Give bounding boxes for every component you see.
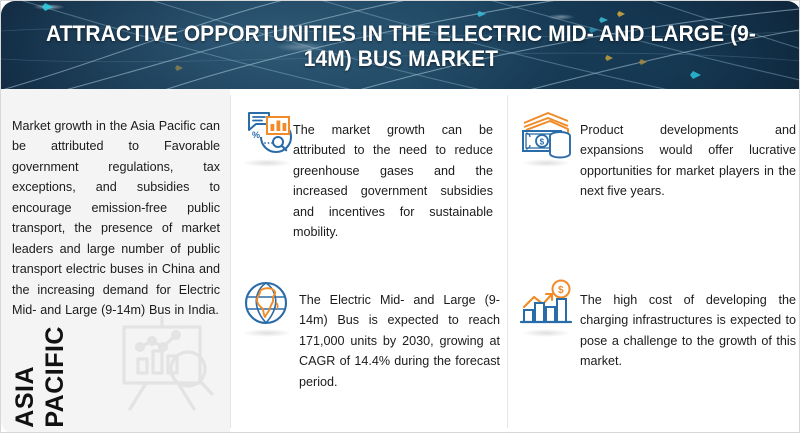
card-product-opportunities: $ Product developments and expansions wo… xyxy=(518,107,800,214)
icon-shadow xyxy=(242,159,292,167)
globe-icon xyxy=(239,277,295,333)
column-divider-right xyxy=(507,95,508,428)
presentation-board-analytics-icon xyxy=(106,311,218,420)
region-label-line1: ASIA xyxy=(13,366,38,428)
region-label-line2: PACIFIC xyxy=(43,326,68,428)
region-paragraph: Market growth in the Asia Pacific can be… xyxy=(12,116,220,321)
icon-shadow xyxy=(242,329,292,337)
card-text: The Electric Mid- and Large (9-14m) Bus … xyxy=(299,290,500,393)
card-text: The market growth can be attributed to t… xyxy=(293,120,493,243)
region-label: ASIA PACIFIC xyxy=(9,308,109,428)
card-market-growth-drivers: % The market growt xyxy=(239,107,505,255)
svg-text:%: % xyxy=(252,130,260,140)
icon-shadow xyxy=(521,329,571,337)
infographic-canvas: ATTRACTIVE OPPORTUNITIES IN THE ELECTRIC… xyxy=(0,0,800,433)
page-title: ATTRACTIVE OPPORTUNITIES IN THE ELECTRIC… xyxy=(46,21,757,71)
card-text: Product developments and expansions woul… xyxy=(580,120,796,202)
svg-text:$: $ xyxy=(558,285,564,296)
region-panel: Market growth in the Asia Pacific can be… xyxy=(1,89,230,433)
right-column: $ Product developments and expansions wo… xyxy=(508,89,800,433)
header-banner: ATTRACTIVE OPPORTUNITIES IN THE ELECTRIC… xyxy=(1,1,800,89)
growth-bar-chart-dollar-icon: $ xyxy=(518,277,574,333)
column-divider-left xyxy=(230,95,231,428)
icon-shadow xyxy=(521,159,571,167)
card-market-forecast: The Electric Mid- and Large (9-14m) Bus … xyxy=(239,277,505,405)
middle-column: % The market growt xyxy=(231,89,507,433)
content-area: Market growth in the Asia Pacific can be… xyxy=(1,89,800,433)
banknotes-coins-icon: $ xyxy=(518,107,574,163)
card-market-challenge: $ The high cost of developing the ch xyxy=(518,277,800,384)
svg-text:$: $ xyxy=(540,137,545,146)
card-text: The high cost of developing the charging… xyxy=(580,290,796,372)
market-research-pie-chart-icon: % xyxy=(239,107,295,163)
